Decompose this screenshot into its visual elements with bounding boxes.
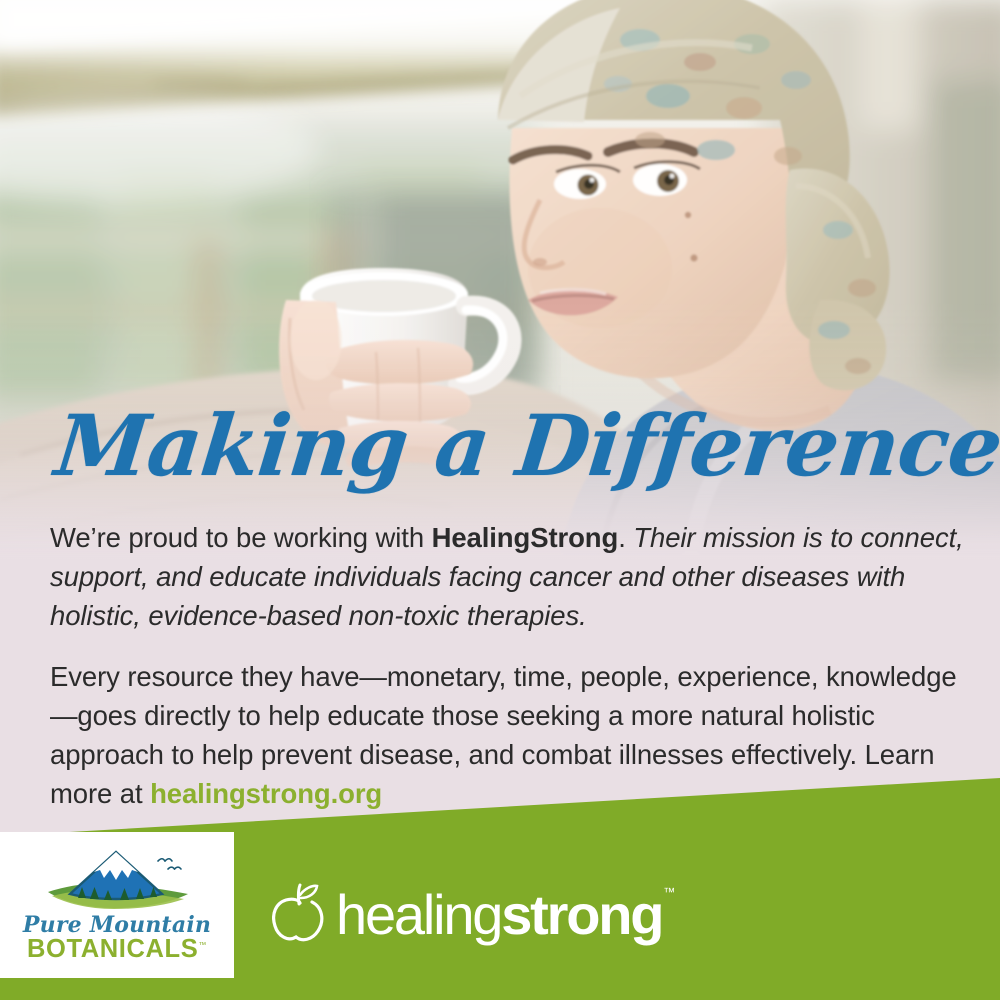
mountain-icon — [42, 848, 192, 910]
copy-lead: We’re proud to be working with — [50, 522, 432, 553]
pmb-botanicals-word: BOTANICALS — [27, 935, 198, 963]
brand-healingstrong: HealingStrong — [432, 522, 619, 553]
pmb-script-text: Pure Mountain — [23, 914, 211, 936]
paragraph-one: We’re proud to be working with HealingSt… — [50, 518, 968, 635]
healingstrong-wordmark: healingstrong™ — [336, 887, 674, 943]
copy-period: . — [618, 522, 633, 553]
pmb-botanicals-text: BOTANICALS™ — [23, 937, 211, 963]
promo-card: Making a Difference We’re proud to be wo… — [0, 0, 1000, 1000]
pmb-trademark-icon: ™ — [198, 940, 207, 949]
apple-icon — [272, 882, 328, 944]
page-title: Making a Difference — [52, 404, 1000, 488]
hs-healing-text: healing — [336, 883, 501, 946]
pure-mountain-botanicals-logo[interactable]: Pure Mountain BOTANICALS™ — [0, 832, 234, 978]
hs-trademark-icon: ™ — [663, 885, 675, 899]
healingstrong-logo[interactable]: healingstrong™ — [272, 882, 674, 944]
pmb-wordmark: Pure Mountain BOTANICALS™ — [23, 914, 211, 963]
hs-strong-text: strong — [501, 883, 662, 946]
